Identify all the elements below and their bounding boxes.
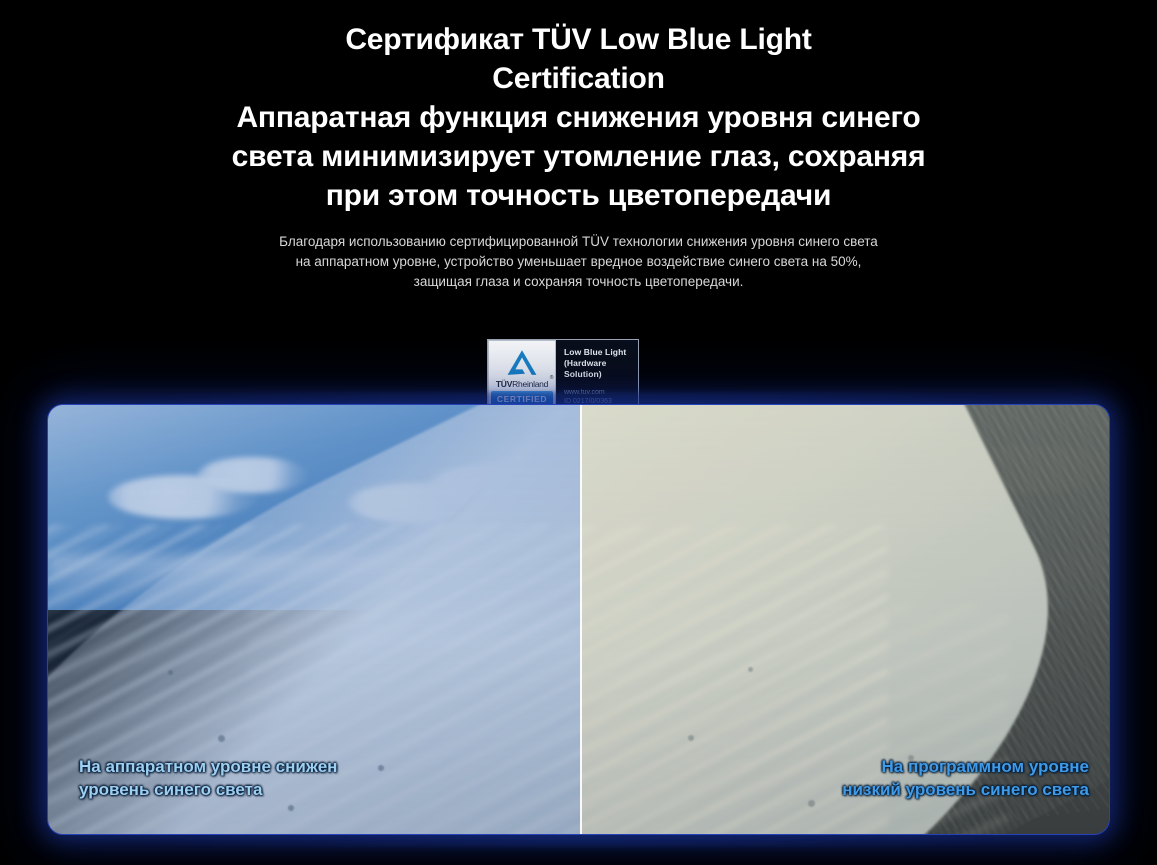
- page-description: Благодаря использованию сертифицированно…: [0, 232, 1157, 292]
- comparison-left-half: На аппаратном уровне снижен уровень сине…: [48, 405, 581, 834]
- tuv-triangle-icon: [505, 348, 539, 378]
- page-root: Сертификат TÜV Low Blue Light Certificat…: [0, 0, 1157, 865]
- page-title: Сертификат TÜV Low Blue Light Certificat…: [0, 20, 1157, 215]
- description-line-2: на аппаратном уровне, устройство уменьша…: [0, 252, 1157, 272]
- tuv-brand-bold: TÜV: [496, 379, 512, 389]
- comparison-slider[interactable]: На аппаратном уровне снижен уровень сине…: [47, 404, 1110, 835]
- headline-line-1: Сертификат TÜV Low Blue Light: [0, 20, 1157, 59]
- headline-line-4: света минимизирует утомление глаз, сохра…: [0, 137, 1157, 176]
- tuv-brand-text: TÜVRheinland®: [496, 379, 548, 389]
- tuv-brand-thin: Rheinland: [512, 379, 548, 389]
- caption-hardware: На аппаратном уровне снижен уровень сине…: [79, 755, 337, 801]
- caption-software: На программном уровне низкий уровень син…: [842, 755, 1089, 801]
- comparison-right-half: На программном уровне низкий уровень син…: [581, 405, 1110, 834]
- tuv-info-line-1: Low Blue Light: [564, 347, 638, 358]
- description-line-3: защищая глаза и сохраняя точность цветоп…: [0, 272, 1157, 292]
- headline-line-2: Certification: [0, 59, 1157, 98]
- description-line-1: Благодаря использованию сертифицированно…: [0, 232, 1157, 252]
- comparison-divider[interactable]: [580, 405, 582, 835]
- registered-icon: ®: [550, 375, 553, 381]
- tuv-info-line-2: (Hardware: [564, 358, 638, 369]
- tuv-info-line-3: Solution): [564, 369, 638, 380]
- headline-line-5: при этом точность цветопередачи: [0, 176, 1157, 215]
- headline-line-3: Аппаратная функция снижения уровня синег…: [0, 98, 1157, 137]
